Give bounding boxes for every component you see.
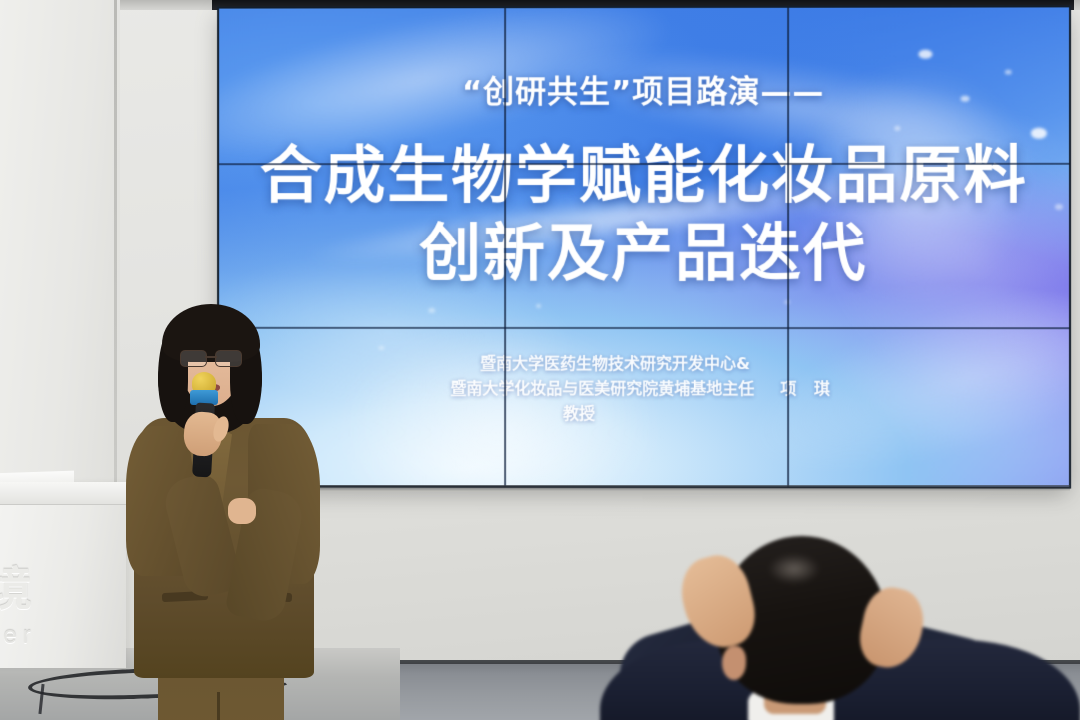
videowall-seam-vertical (504, 8, 506, 486)
videowall-seam-vertical (787, 8, 789, 486)
bokeh-particle-icon (918, 50, 932, 59)
bokeh-particle-icon (488, 270, 494, 275)
bokeh-particle-icon (961, 96, 970, 102)
glow-spot-icon (798, 68, 1029, 299)
bokeh-particle-icon (894, 126, 900, 131)
videowall-seam-horizontal (219, 163, 1069, 165)
bokeh-particle-icon (1005, 70, 1012, 75)
bokeh-particle-icon (428, 308, 435, 313)
videowall-seam-horizontal (219, 327, 1069, 329)
attendee-ear (722, 646, 746, 680)
eyeglasses-icon (180, 350, 242, 365)
screenshot-stage: “创研共生”项目路演—— 合成生物学赋能化妆品原料 创新及产品迭代 暨南大学医药… (0, 0, 1080, 720)
presenter-trouser-seam (217, 692, 220, 720)
foreground-attendee (600, 528, 1080, 720)
bokeh-particle-icon (536, 304, 541, 308)
bokeh-particle-icon (1031, 128, 1047, 139)
presenter-figure (118, 300, 328, 720)
wall-sign-latin: der (0, 622, 37, 650)
wall-sign-chinese: 境 (0, 566, 34, 612)
bokeh-particle-icon (1055, 204, 1063, 210)
bokeh-particle-icon (378, 346, 384, 350)
attendee-hair-highlight (768, 554, 820, 584)
videowall-bottom-shadow (218, 485, 1070, 491)
podium-top-surface (0, 482, 126, 505)
presenter-hand-right (228, 498, 256, 524)
bokeh-particle-icon (826, 240, 831, 244)
bokeh-particle-icon (570, 254, 575, 258)
video-wall-display[interactable]: “创研共生”项目路演—— 合成生物学赋能化妆品原料 创新及产品迭代 暨南大学医药… (219, 7, 1069, 486)
